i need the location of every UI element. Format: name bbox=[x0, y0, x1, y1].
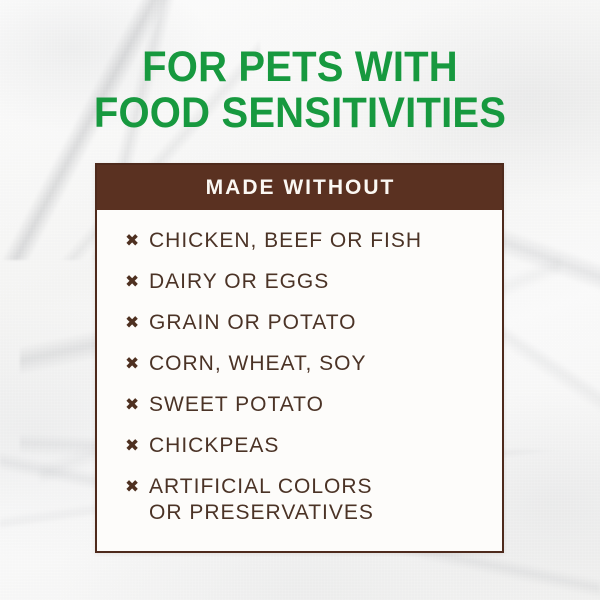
list-item-label: ARTIFICIAL COLORS OR PRESERVATIVES bbox=[149, 474, 374, 526]
list-item: ✖ CORN, WHEAT, SOY bbox=[125, 351, 502, 377]
list-item: ✖ CHICKPEAS bbox=[125, 433, 502, 459]
x-mark-icon: ✖ bbox=[125, 228, 149, 254]
list-item-label: CHICKPEAS bbox=[149, 433, 279, 459]
x-mark-icon: ✖ bbox=[125, 392, 149, 418]
list-item: ✖ GRAIN OR POTATO bbox=[125, 310, 502, 336]
x-mark-icon: ✖ bbox=[125, 269, 149, 295]
poster: FOR PETS WITH FOOD SENSITIVITIES MADE WI… bbox=[0, 0, 600, 600]
card-header-title: MADE WITHOUT bbox=[204, 176, 396, 200]
list-item-label: CORN, WHEAT, SOY bbox=[149, 351, 366, 377]
list-item: ✖ CHICKEN, BEEF OR FISH bbox=[125, 228, 502, 254]
x-mark-icon: ✖ bbox=[125, 474, 149, 500]
exclusion-list: ✖ CHICKEN, BEEF OR FISH ✖ DAIRY OR EGGS … bbox=[125, 228, 502, 526]
made-without-card: MADE WITHOUT ✖ CHICKEN, BEEF OR FISH ✖ D… bbox=[95, 163, 504, 553]
x-mark-icon: ✖ bbox=[125, 433, 149, 459]
list-item: ✖ ARTIFICIAL COLORS OR PRESERVATIVES bbox=[125, 474, 502, 526]
x-mark-icon: ✖ bbox=[125, 351, 149, 377]
list-item: ✖ DAIRY OR EGGS bbox=[125, 269, 502, 295]
list-item-label: SWEET POTATO bbox=[149, 392, 324, 418]
list-item-label: DAIRY OR EGGS bbox=[149, 269, 329, 295]
card-body: ✖ CHICKEN, BEEF OR FISH ✖ DAIRY OR EGGS … bbox=[97, 210, 502, 526]
list-item-label: GRAIN OR POTATO bbox=[149, 310, 357, 336]
list-item: ✖ SWEET POTATO bbox=[125, 392, 502, 418]
card-header: MADE WITHOUT bbox=[97, 165, 502, 210]
page-title-line-2: FOOD SENSITIVITIES bbox=[21, 90, 579, 136]
list-item-label: CHICKEN, BEEF OR FISH bbox=[149, 228, 422, 254]
x-mark-icon: ✖ bbox=[125, 310, 149, 336]
page-title: FOR PETS WITH FOOD SENSITIVITIES bbox=[0, 44, 600, 136]
page-title-line-1: FOR PETS WITH bbox=[21, 44, 579, 90]
